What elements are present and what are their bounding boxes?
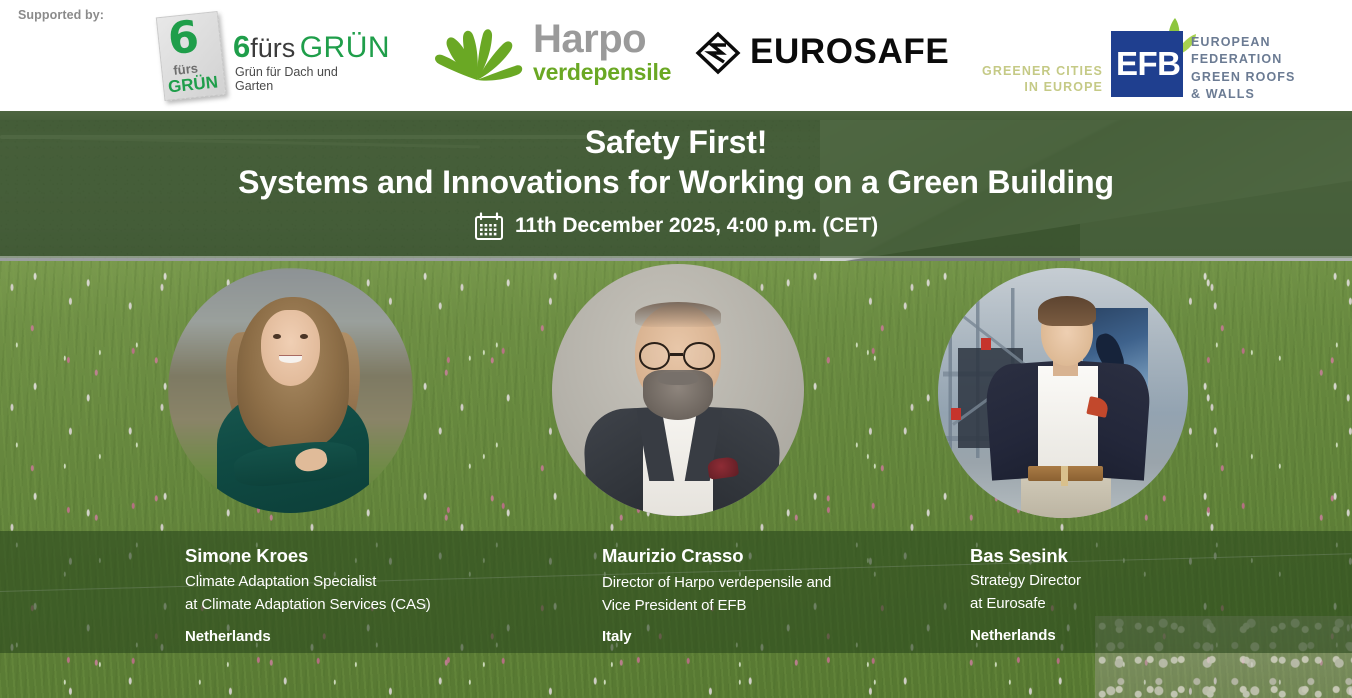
supporters-header: Supported by: 6 fürs GRÜN 6fürs GRÜN Grü…: [0, 0, 1352, 111]
calendar-icon: [474, 212, 504, 241]
speaker-name: Maurizio Crasso: [602, 544, 952, 567]
title-band: Safety First! Systems and Innovations fo…: [0, 111, 1352, 258]
gruen-tile-gruen: GRÜN: [167, 72, 219, 97]
efb-monogram-badge: EFB: [1111, 31, 1183, 97]
gruen-tile-number: 6: [166, 15, 201, 62]
efb-fullname: EUROPEAN FEDERATION GREEN ROOFS & WALLS: [1191, 34, 1295, 103]
harpo-leaf-icon: [425, 22, 530, 82]
glasses-bridge: [670, 353, 683, 356]
eurosafe-diamond-icon: [695, 31, 741, 75]
gruen-tagline: Grün für Dach und Garten: [235, 65, 375, 93]
moustache: [658, 372, 698, 385]
efb-tagline: GREENER CITIES IN EUROPE: [963, 64, 1103, 95]
hair: [1038, 296, 1096, 326]
speaker-card-3: Bas Sesink Strategy Director at Eurosafe…: [970, 544, 1330, 644]
supported-by-label: Supported by:: [18, 8, 104, 22]
speaker-role-line1: Director of Harpo verdepensile and: [602, 572, 952, 595]
harpo-name: Harpo: [533, 20, 671, 59]
efb-fullname-line1: EUROPEAN: [1191, 34, 1295, 51]
speaker-band: Simone Kroes Climate Adaptation Speciali…: [0, 531, 1352, 653]
gruen-wordmark: 6fürs GRÜN: [233, 29, 390, 65]
gruen-word-6: 6: [233, 29, 250, 64]
belt-buckle: [1061, 466, 1068, 486]
gruen-tile-icon: 6 fürs GRÜN: [156, 11, 226, 101]
scaffold-marker-upper: [981, 338, 991, 350]
portrait-1-image: [168, 268, 413, 513]
speaker-portrait-3: [938, 268, 1188, 518]
harpo-wordmark: Harpo verdepensile: [533, 20, 671, 85]
gruen-word-fuers: fürs: [250, 33, 295, 63]
scaffold-marker-lower: [951, 408, 961, 420]
efb-fullname-line3: GREEN ROOFS: [1191, 69, 1295, 86]
page-subtitle: Systems and Innovations for Working on a…: [0, 164, 1352, 201]
speaker-portrait-2: [552, 264, 804, 516]
harpo-subtitle: verdepensile: [533, 60, 671, 85]
glasses-lens-right: [683, 342, 715, 370]
face: [261, 310, 320, 386]
event-date: 11th December 2025, 4:00 p.m. (CET): [515, 214, 878, 238]
logo-6-fuers-gruen[interactable]: 6 fürs GRÜN 6fürs GRÜN Grün für Dach und…: [160, 10, 375, 102]
hair: [635, 302, 721, 327]
portrait-3-image: [938, 268, 1188, 518]
speaker-country: Netherlands: [185, 628, 555, 645]
eurosafe-wordmark: EUROSAFE: [750, 32, 949, 72]
efb-fullname-line4: & WALLS: [1191, 86, 1295, 103]
logo-eurosafe[interactable]: EUROSAFE: [695, 30, 935, 76]
speaker-country: Italy: [602, 628, 952, 645]
white-shirt: [1038, 366, 1098, 471]
speaker-card-2: Maurizio Crasso Director of Harpo verdep…: [602, 544, 952, 645]
event-date-row: 11th December 2025, 4:00 p.m. (CET): [0, 212, 1352, 241]
speaker-role-line2: at Climate Adaptation Services (CAS): [185, 594, 555, 617]
speaker-name: Simone Kroes: [185, 544, 555, 567]
speaker-portrait-1: [168, 268, 413, 513]
efb-tagline-line1: GREENER CITIES: [963, 64, 1103, 80]
speaker-card-1: Simone Kroes Climate Adaptation Speciali…: [185, 544, 555, 645]
gruen-word-gruen: GRÜN: [300, 31, 390, 64]
portrait-2-image: [552, 264, 804, 516]
page-title: Safety First!: [0, 124, 1352, 161]
speaker-name: Bas Sesink: [970, 544, 1330, 567]
speaker-role-line1: Strategy Director: [970, 570, 1330, 593]
logo-harpo[interactable]: Harpo verdepensile: [425, 16, 665, 96]
speaker-role-line2: at Eurosafe: [970, 593, 1330, 616]
webinar-banner: Safety First! Systems and Innovations fo…: [0, 0, 1352, 698]
efb-fullname-line2: FEDERATION: [1191, 51, 1295, 68]
logo-efb[interactable]: GREENER CITIES IN EUROPE EFB EUROPEAN FE…: [963, 10, 1343, 102]
efb-monogram: EFB: [1116, 45, 1181, 83]
speaker-country: Netherlands: [970, 627, 1330, 644]
speaker-role-line2: Vice President of EFB: [602, 595, 952, 618]
speaker-role-line1: Climate Adaptation Specialist: [185, 571, 555, 594]
efb-tagline-line2: IN EUROPE: [963, 80, 1103, 96]
glasses-lens-left: [639, 342, 671, 370]
